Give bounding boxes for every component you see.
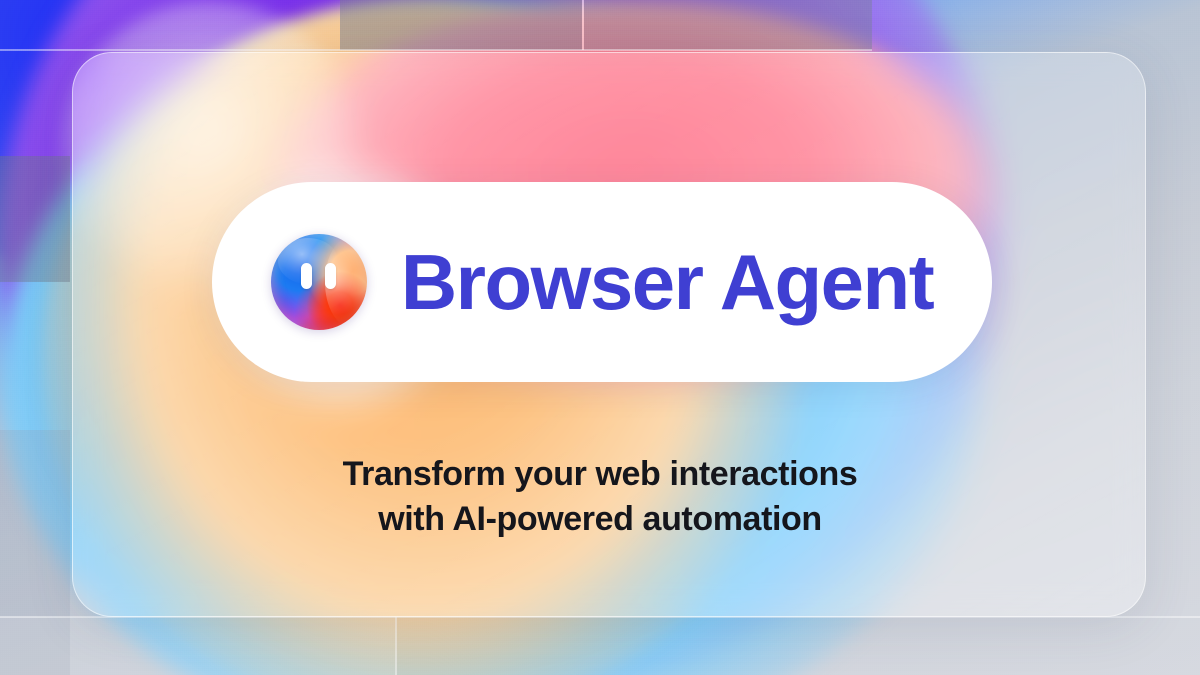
hero-content: Browser Agent Transform your web interac… [0,0,1200,675]
brand-pill[interactable]: Browser Agent [212,182,992,382]
hero-tagline-line-1: Transform your web interactions [0,452,1200,497]
browser-agent-orb-icon [271,234,367,330]
brand-wordmark: Browser Agent [401,243,933,321]
hero-banner: Browser Agent Transform your web interac… [0,0,1200,675]
orb-eye-right-icon [325,263,336,289]
hero-tagline-line-2: with AI-powered automation [0,497,1200,542]
orb-eye-left-icon [301,263,312,289]
orb-eyes-icon [271,234,367,324]
hero-tagline: Transform your web interactions with AI-… [0,452,1200,542]
